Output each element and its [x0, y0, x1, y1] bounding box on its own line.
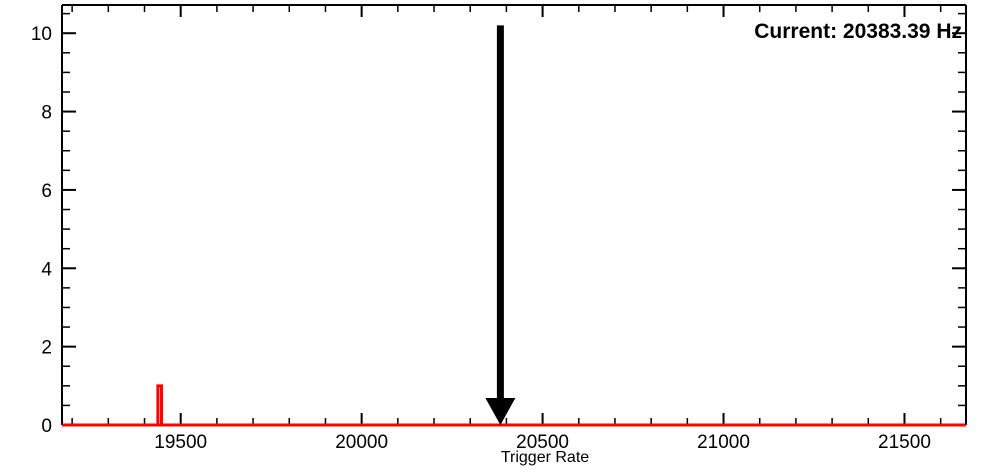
current-rate-label: Current: 20383.39 Hz [754, 20, 962, 43]
y-tick-label: 2 [41, 338, 52, 359]
trigger-rate-histogram-plot: 1950020000205002100021500 0246810 Curren… [0, 0, 996, 472]
root-canvas-histogram: 1950020000205002100021500 0246810 Curren… [0, 0, 996, 472]
y-tick-label: 4 [41, 259, 52, 280]
y-tick-label: 8 [41, 103, 52, 124]
x-tick-label: 21500 [878, 432, 931, 453]
y-tick-label: 6 [41, 181, 52, 202]
x-tick-label: 19500 [154, 432, 207, 453]
y-tick-label: 0 [41, 416, 52, 437]
x-tick-label: 21000 [697, 432, 750, 453]
x-tick-label: 20000 [335, 432, 388, 453]
x-axis-title: Trigger Rate [501, 449, 589, 466]
y-tick-label: 10 [31, 24, 52, 45]
